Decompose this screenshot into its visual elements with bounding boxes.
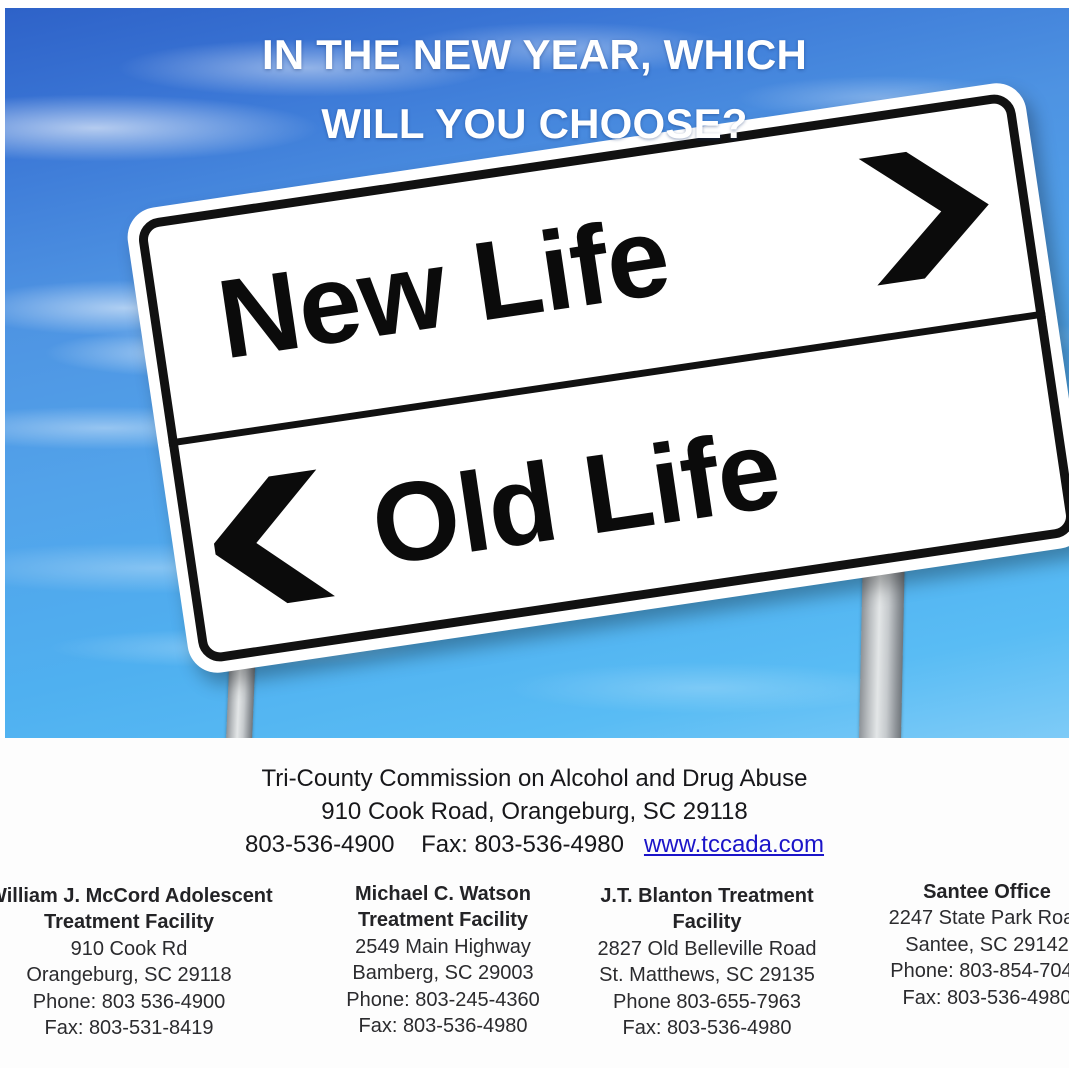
location-card-william-j-mccord: William J. McCord Adolescent Treatment F… <box>0 883 270 1041</box>
organization-phone: 803-536-4900 <box>245 831 394 858</box>
footer: Tri-County Commission on Alcohol and Dru… <box>0 738 1069 1068</box>
sign-old-life-label: Old Life <box>365 413 786 584</box>
location-card-jt-blanton: J.T. Blanton Treatment Facility 2827 Old… <box>566 883 848 1041</box>
location-phone: Phone: 803 536-4900 <box>0 989 270 1015</box>
page-title: IN THE NEW YEAR, WHICH WILL YOU CHOOSE? <box>0 20 1069 159</box>
location-street: 910 Cook Rd <box>0 936 270 962</box>
location-city: Orangeburg, SC 29118 <box>0 962 270 988</box>
organization-name: Tri-County Commission on Alcohol and Dru… <box>0 762 1069 795</box>
location-fax: Fax: 803-536-4980 <box>302 1013 584 1039</box>
location-fax: Fax: 803-536-4980 <box>566 1015 848 1041</box>
website-link[interactable]: www.tccada.com <box>644 831 824 858</box>
location-phone: Phone: 803-854-7049 <box>846 958 1069 984</box>
chevron-left-icon <box>204 460 354 622</box>
sign-new-life-label: New Life <box>211 199 675 376</box>
headline-line-1: IN THE NEW YEAR, WHICH <box>0 20 1069 89</box>
location-title-line-1: Santee Office <box>846 879 1069 905</box>
location-city: Bamberg, SC 29003 <box>302 960 584 986</box>
location-title-line-1: Michael C. Watson <box>302 881 584 907</box>
location-phone: Phone 803-655-7963 <box>566 989 848 1015</box>
location-city: St. Matthews, SC 29135 <box>566 962 848 988</box>
organization-block: Tri-County Commission on Alcohol and Dru… <box>0 738 1069 861</box>
headline-line-2: WILL YOU CHOOSE? <box>0 89 1069 158</box>
location-street: 2549 Main Highway <box>302 934 584 960</box>
organization-fax: Fax: 803-536-4980 <box>421 831 624 858</box>
location-title-line-1: J.T. Blanton Treatment <box>566 883 848 909</box>
location-title-line-2: Facility <box>566 909 848 935</box>
locations-list: William J. McCord Adolescent Treatment F… <box>0 881 1069 1066</box>
location-card-michael-c-watson: Michael C. Watson Treatment Facility 254… <box>302 881 584 1039</box>
location-title-line-2: Treatment Facility <box>0 909 270 935</box>
location-street: 2247 State Park Road <box>846 905 1069 931</box>
location-title-line-2: Treatment Facility <box>302 907 584 933</box>
organization-address: 910 Cook Road, Orangeburg, SC 29118 <box>0 795 1069 828</box>
location-title-line-1: William J. McCord Adolescent <box>0 883 270 909</box>
location-fax: Fax: 803-531-8419 <box>0 1015 270 1041</box>
location-card-santee-office: Santee Office 2247 State Park Road Sante… <box>846 879 1069 1011</box>
location-street: 2827 Old Belleville Road <box>566 936 848 962</box>
location-city: Santee, SC 29142 <box>846 932 1069 958</box>
organization-contact-line: 803-536-4900 Fax: 803-536-4980 www.tccad… <box>0 828 1069 861</box>
location-fax: Fax: 803-536-4980 <box>846 985 1069 1011</box>
location-phone: Phone: 803-245-4360 <box>302 987 584 1013</box>
